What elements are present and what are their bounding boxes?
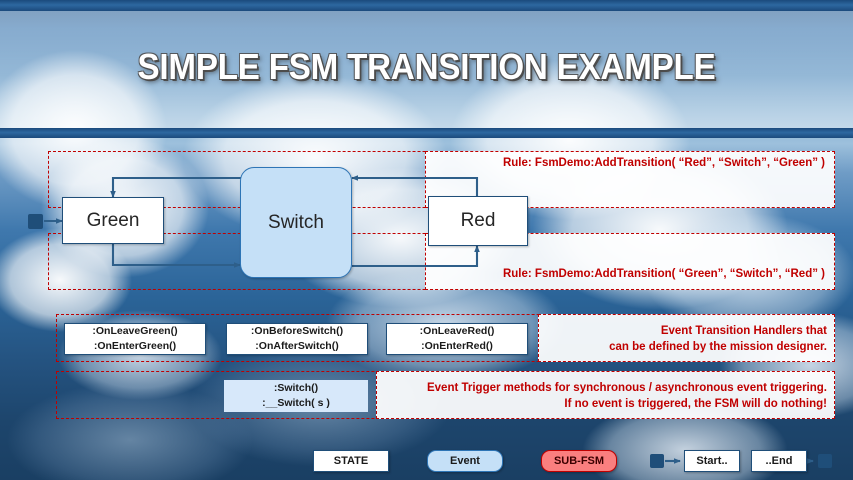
page-title: SIMPLE FSM TRANSITION EXAMPLE <box>34 46 819 88</box>
legend-subfsm-label: SUB-FSM <box>554 455 604 467</box>
slide-canvas: SIMPLE FSM TRANSITION EXAMPLE Rule: FsmD… <box>0 0 853 480</box>
handlers-note-line1: Event Transition Handlers that <box>548 325 827 337</box>
handler-green-line2: :OnEnterGreen() <box>94 339 176 354</box>
legend-item-start[interactable]: Start.. <box>684 450 740 472</box>
legend-item-subfsm[interactable]: SUB-FSM <box>541 450 617 472</box>
legend-end-square-icon <box>818 454 832 468</box>
state-node-green-label: Green <box>87 210 140 232</box>
rule-text-green-to-red: Rule: FsmDemo:AddTransition( “Green”, “S… <box>425 268 825 280</box>
rule-text-red-to-green: Rule: FsmDemo:AddTransition( “Red”, “Swi… <box>425 157 825 169</box>
handler-box-red[interactable]: :OnLeaveRed() :OnEnterRed() <box>386 323 528 355</box>
legend-start-square-icon <box>650 454 664 468</box>
handler-red-line2: :OnEnterRed() <box>421 339 493 354</box>
legend-event-label: Event <box>450 455 480 467</box>
handler-box-switch[interactable]: :OnBeforeSwitch() :OnAfterSwitch() <box>226 323 368 355</box>
handler-red-line1: :OnLeaveRed() <box>420 324 495 339</box>
start-marker-square <box>28 214 43 229</box>
triggers-note-line1: Event Trigger methods for synchronous / … <box>386 382 827 394</box>
legend-state-label: STATE <box>334 455 368 467</box>
legend-item-event[interactable]: Event <box>427 450 503 472</box>
handlers-note-line2: can be defined by the mission designer. <box>548 341 827 353</box>
trigger-switch-line1: :Switch() <box>274 381 318 396</box>
trigger-box-switch[interactable]: :Switch() :__Switch( s ) <box>224 380 368 412</box>
state-node-red[interactable]: Red <box>428 196 528 246</box>
triggers-note-callout <box>376 371 835 419</box>
legend-item-state[interactable]: STATE <box>313 450 389 472</box>
legend-end-label: ..End <box>766 455 793 467</box>
handlers-note-callout <box>538 314 835 362</box>
handler-green-line1: :OnLeaveGreen() <box>92 324 177 339</box>
trigger-switch-line2: :__Switch( s ) <box>262 396 330 411</box>
handler-switch-line2: :OnAfterSwitch() <box>255 339 338 354</box>
handler-switch-line1: :OnBeforeSwitch() <box>251 324 343 339</box>
event-node-switch[interactable]: Switch <box>240 167 352 278</box>
header-bottom-band <box>0 128 853 138</box>
header-top-band <box>0 0 853 11</box>
state-node-green[interactable]: Green <box>62 197 164 244</box>
triggers-note-line2: If no event is triggered, the FSM will d… <box>386 398 827 410</box>
handler-box-green[interactable]: :OnLeaveGreen() :OnEnterGreen() <box>64 323 206 355</box>
legend-start-label: Start.. <box>696 455 727 467</box>
event-node-switch-label: Switch <box>268 212 324 234</box>
legend-item-end[interactable]: ..End <box>751 450 807 472</box>
state-node-red-label: Red <box>461 210 496 232</box>
